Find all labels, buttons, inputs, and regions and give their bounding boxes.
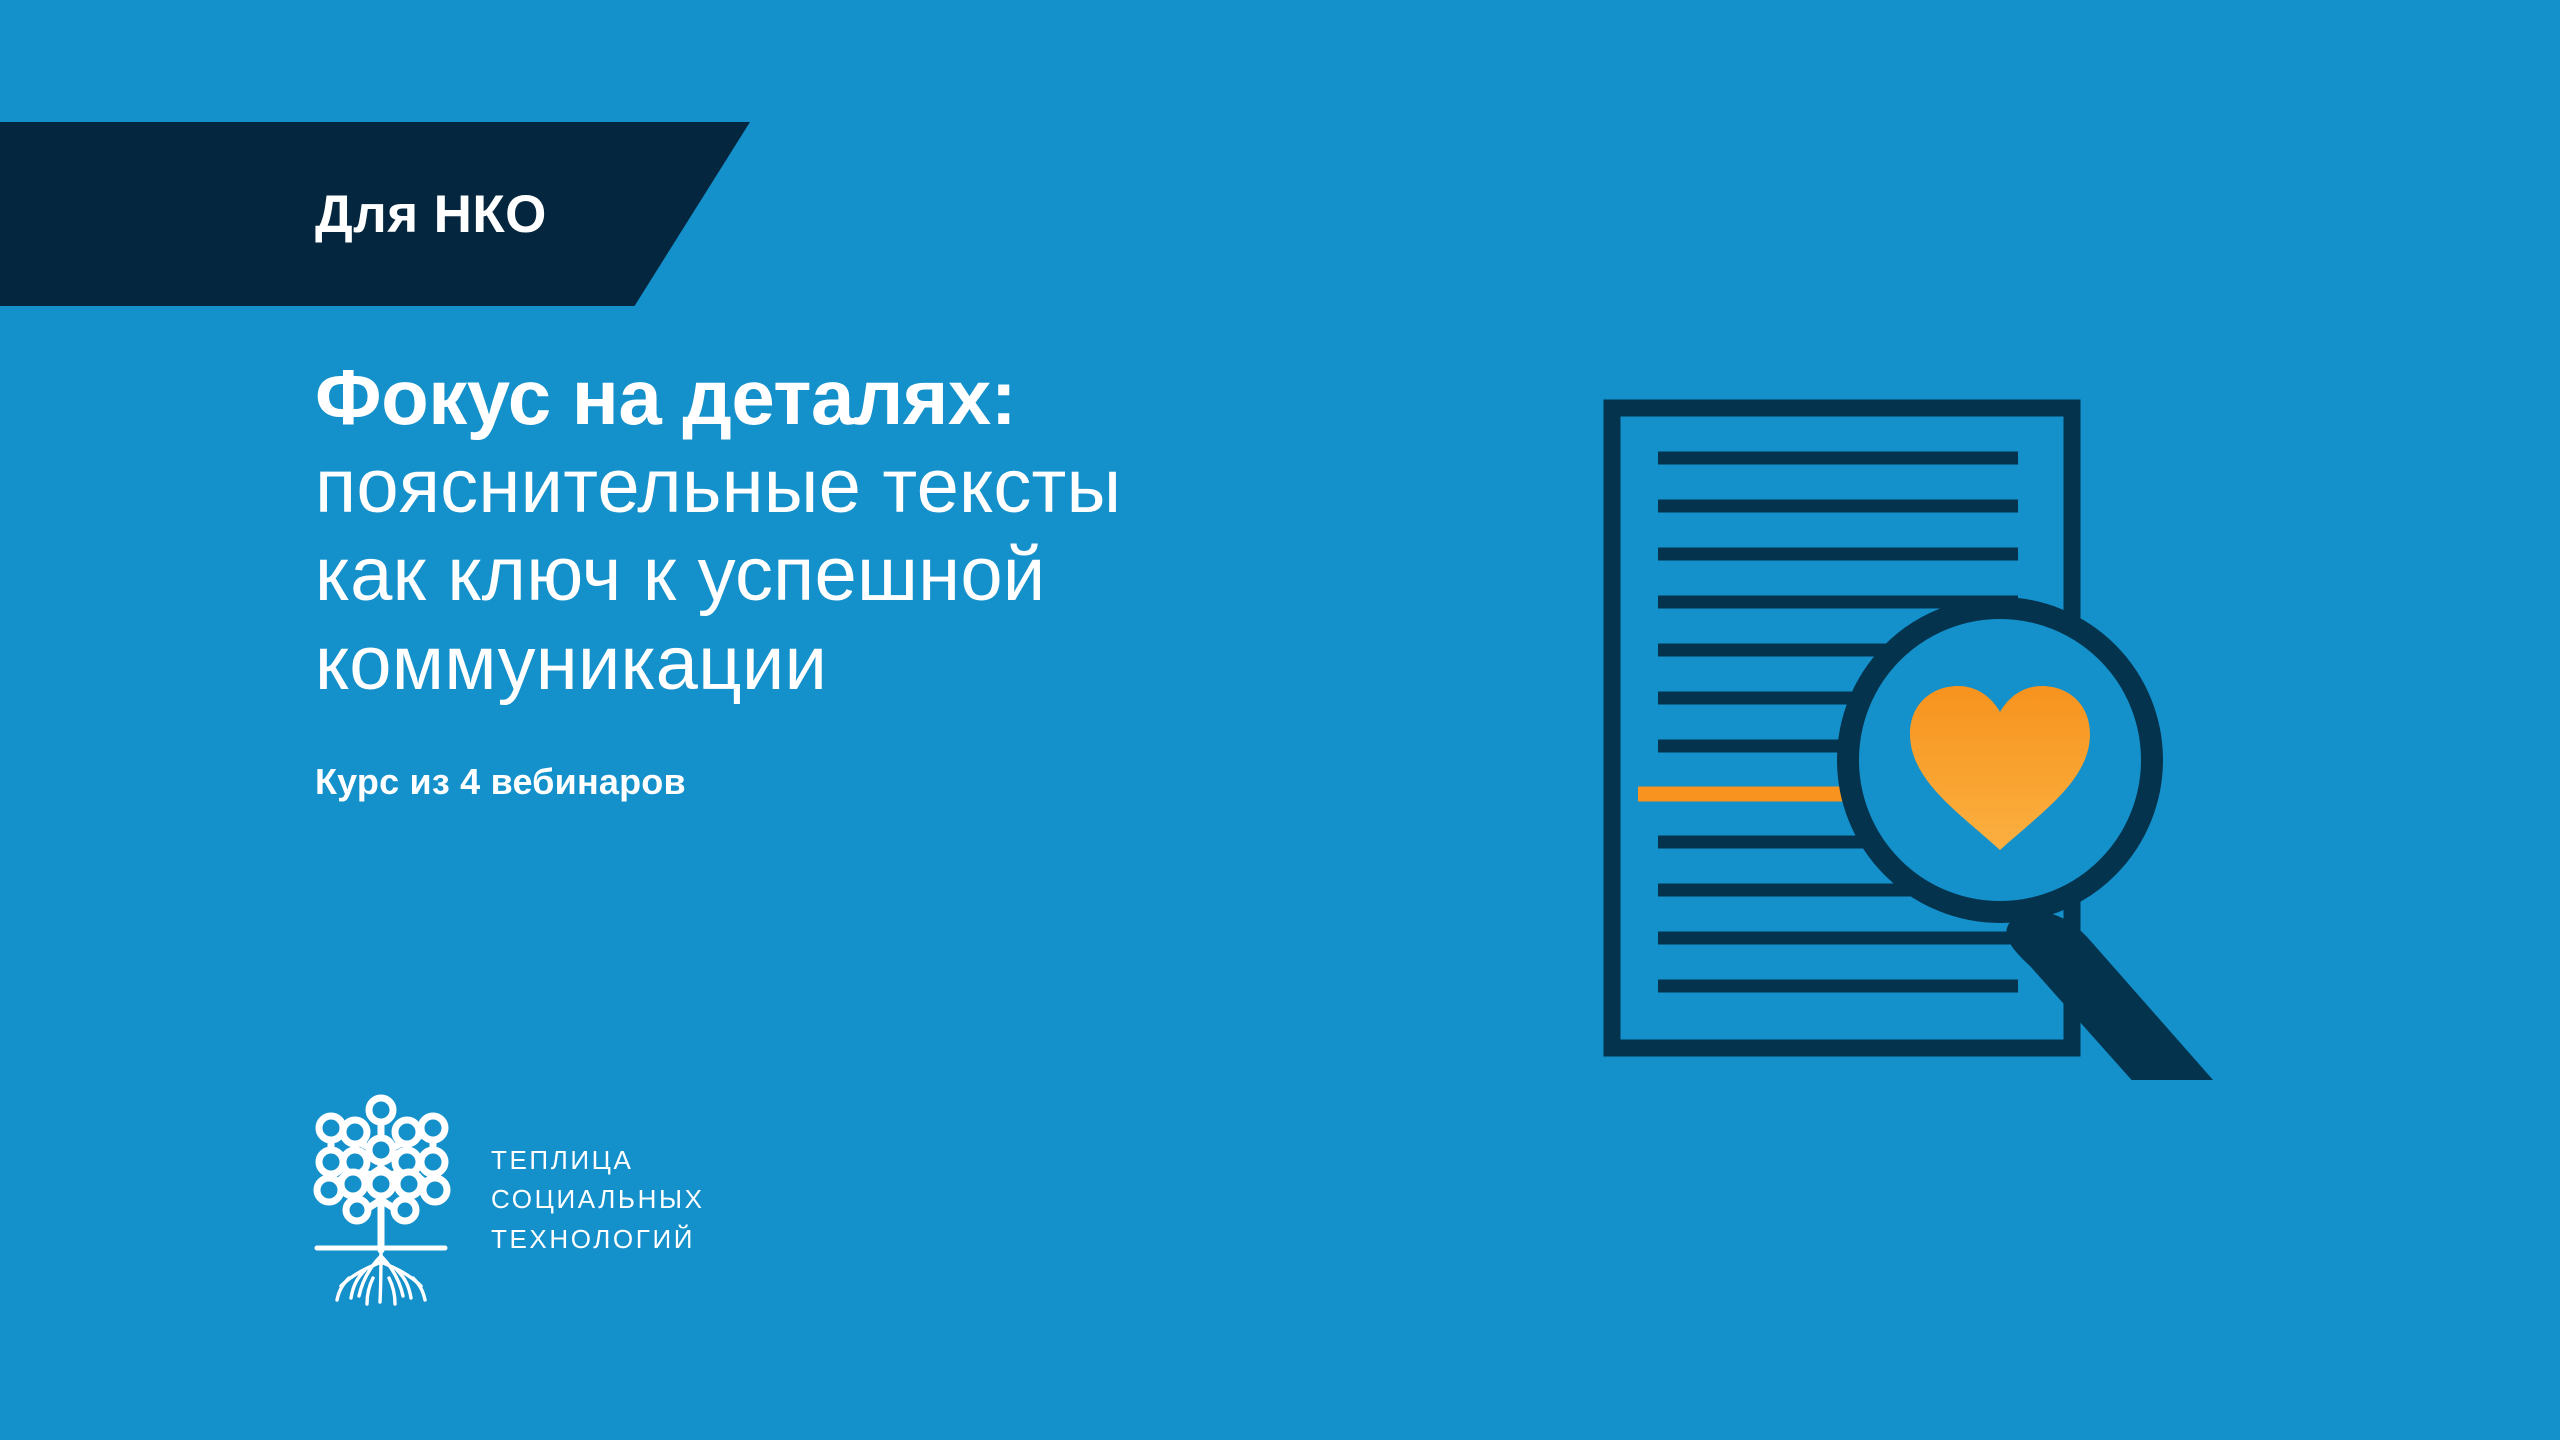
category-ribbon-label: Для НКО — [315, 188, 547, 241]
course-subtitle: Курс из 4 вебинаров — [315, 764, 1495, 800]
wordmark-line-1: ТЕПЛИЦА — [491, 1141, 705, 1181]
headline-line-3: как ключ к успешной — [315, 531, 1495, 620]
document-magnifier-heart-graphic — [1560, 360, 2360, 1080]
headline-line-2: пояснительные тексты — [315, 443, 1495, 532]
network-tree-icon — [305, 1088, 457, 1312]
wordmark-line-3: ТЕХНОЛОГИЙ — [491, 1220, 705, 1260]
category-ribbon: Для НКО — [0, 122, 750, 306]
page-title: Фокус на деталях: пояснительные тексты к… — [315, 352, 1495, 708]
brand-logo: ТЕПЛИЦА СОЦИАЛЬНЫХ ТЕХНОЛОГИЙ — [305, 1088, 705, 1312]
brand-wordmark: ТЕПЛИЦА СОЦИАЛЬНЫХ ТЕХНОЛОГИЙ — [491, 1141, 705, 1260]
headline-line-1: Фокус на деталях: — [315, 352, 1495, 443]
hero-illustration — [1560, 360, 2360, 1080]
promo-banner: Для НКО Фокус на деталях: пояснительные … — [0, 0, 2560, 1440]
copy-block: Фокус на деталях: пояснительные тексты к… — [315, 352, 1495, 800]
headline-line-4: коммуникации — [315, 620, 1495, 709]
wordmark-line-2: СОЦИАЛЬНЫХ — [491, 1180, 705, 1220]
